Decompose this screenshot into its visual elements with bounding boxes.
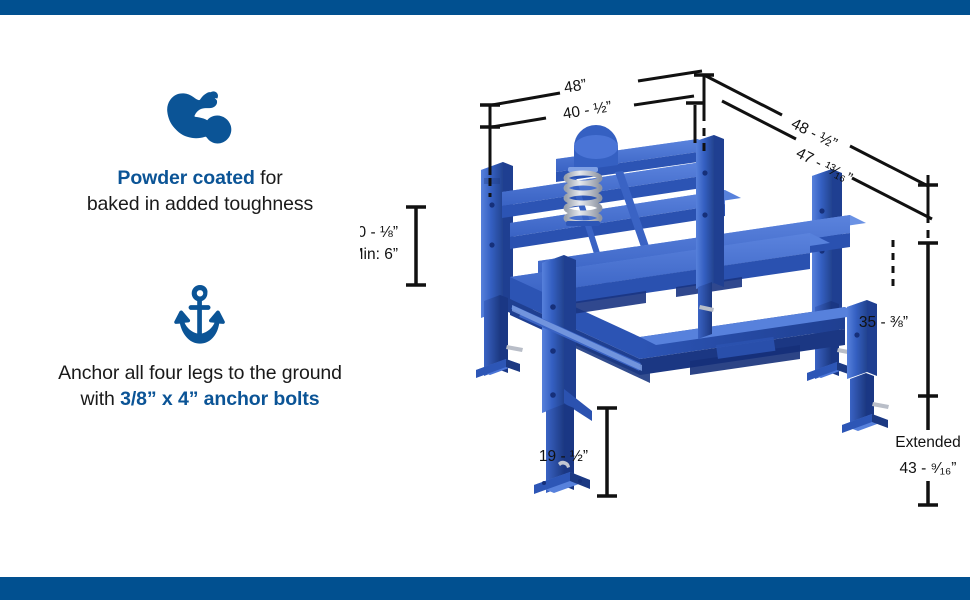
anchor-icon bbox=[0, 285, 400, 347]
dim-label-travel-max: Max: 10 - ⅛” bbox=[360, 224, 398, 241]
dim-label-extended: Extended bbox=[895, 434, 961, 451]
dimension-diagram: 48” 40 - ½” 48 - ½” 47 - ¹³⁄₁₆” Max: 10 … bbox=[360, 15, 970, 577]
feature-anchor-bolts-line1: Anchor all four legs to the ground bbox=[0, 361, 400, 387]
dim-label-travel-min: Min: 6” bbox=[360, 246, 398, 263]
dim-label-table-height: 35 - ⅜” bbox=[859, 314, 908, 331]
top-accent-bar bbox=[0, 0, 970, 15]
dim-leg-height bbox=[597, 408, 617, 496]
dim-table-height bbox=[918, 243, 938, 396]
feature-list: Powder coated for baked in added toughne… bbox=[0, 15, 400, 577]
dim-label-top-width: 48” bbox=[563, 76, 588, 96]
feature-powder-coated-rest: for bbox=[255, 167, 283, 189]
feature-anchor-bolts-text: Anchor all four legs to the ground with … bbox=[0, 361, 400, 412]
feature-powder-coated: Powder coated for baked in added toughne… bbox=[0, 90, 400, 217]
feature-powder-coated-strong: Powder coated bbox=[117, 167, 254, 189]
dim-label-right-depth: 48 - ½” bbox=[788, 115, 839, 152]
dim-travel-marker bbox=[406, 207, 426, 285]
machine-illustration bbox=[476, 125, 889, 494]
feature-anchor-bolts-strong: 3/8” x 4” anchor bolts bbox=[120, 388, 319, 410]
feature-powder-coated-text: Powder coated for baked in added toughne… bbox=[0, 166, 400, 217]
feature-anchor-bolts: Anchor all four legs to the ground with … bbox=[0, 285, 400, 412]
bottom-accent-bar bbox=[0, 577, 970, 600]
post-center-rear bbox=[696, 135, 724, 339]
feature-anchor-bolts-prefix: with bbox=[81, 388, 121, 410]
infographic-canvas: Powder coated for baked in added toughne… bbox=[0, 0, 970, 600]
dim-label-leg-height: 19 - ½” bbox=[539, 448, 588, 465]
dim-label-top-inner-width: 40 - ½” bbox=[562, 98, 613, 122]
feature-powder-coated-line2: baked in added toughness bbox=[0, 192, 400, 218]
dim-label-extended-value: 43 - ⁹⁄₁₆” bbox=[900, 460, 957, 477]
flexed-bicep-icon bbox=[0, 90, 400, 152]
